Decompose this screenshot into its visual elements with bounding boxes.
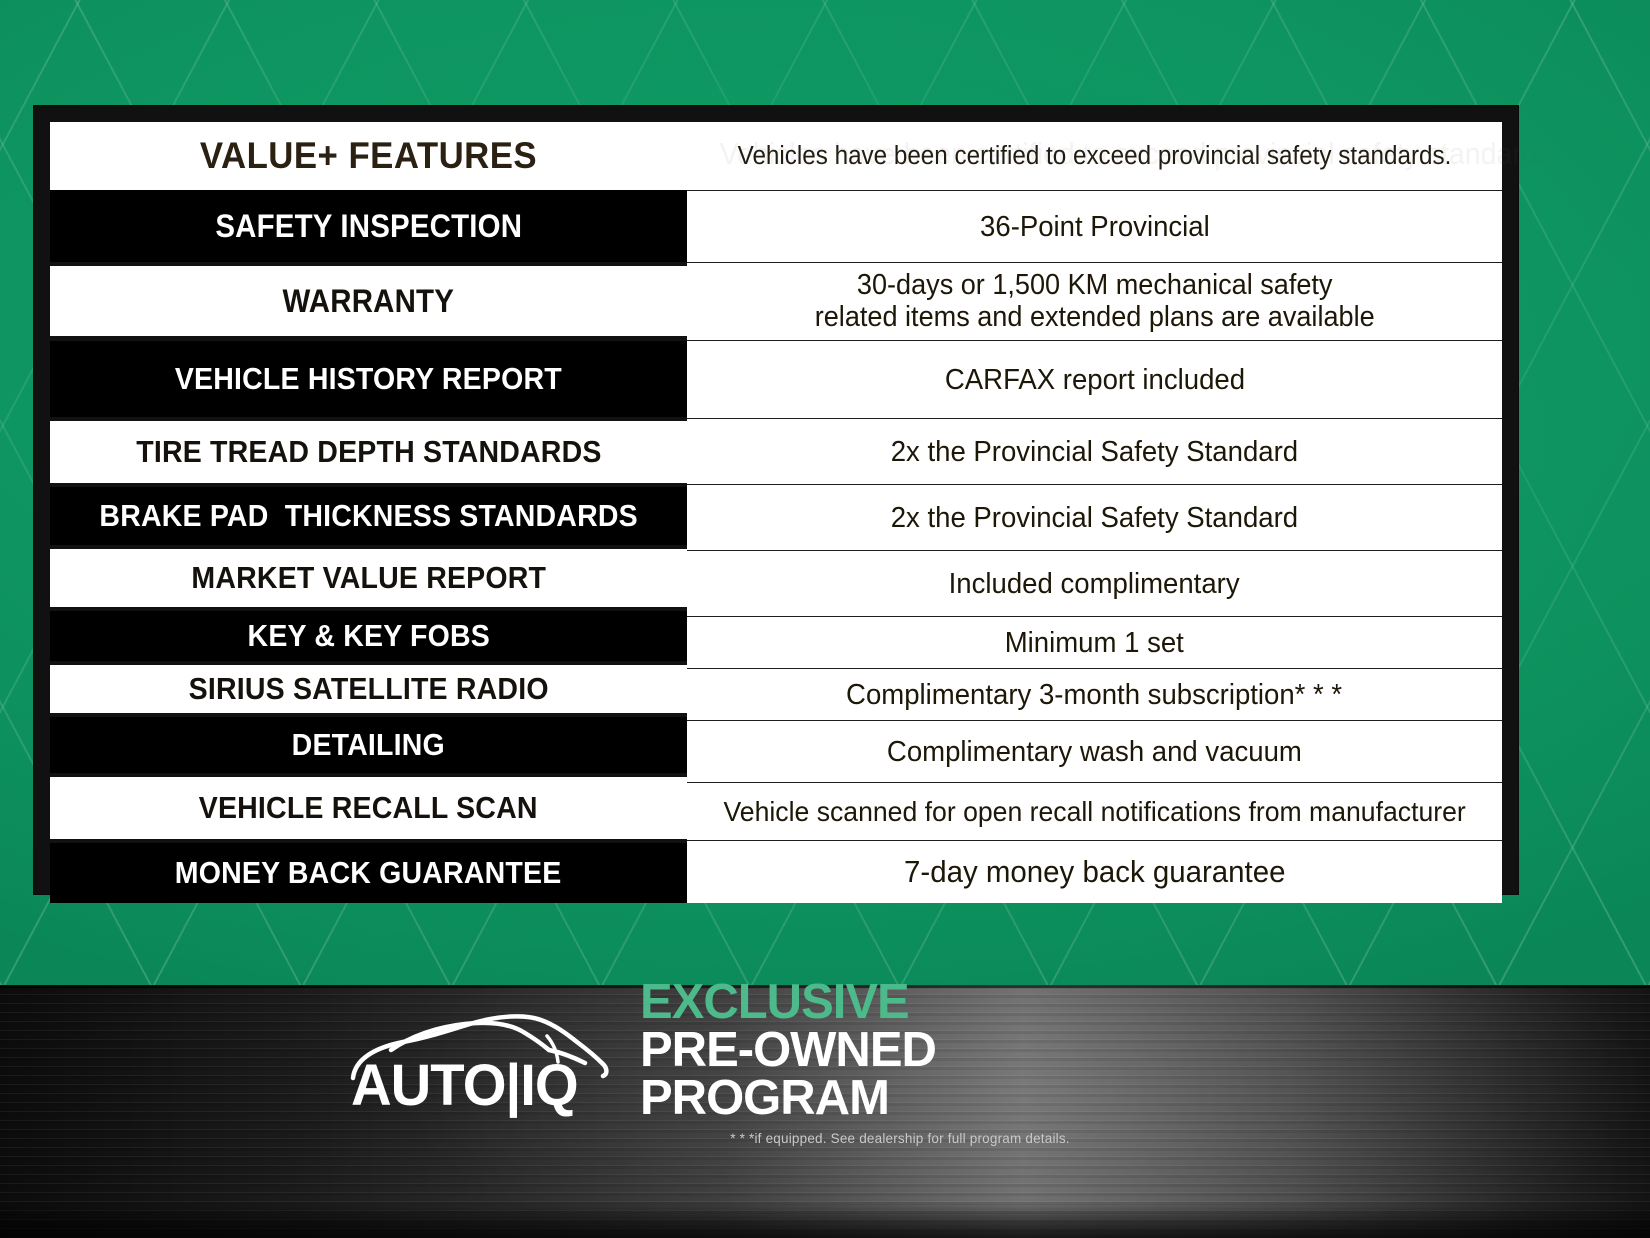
footer-bottom-shade — [0, 1202, 1650, 1238]
value-column: 36-Point Provincial 30-days or 1,500 KM … — [687, 122, 1502, 878]
feature-value: Vehicle scanned for open recall notifica… — [723, 796, 1465, 827]
table-row[interactable]: MONEY BACK GUARANTEE — [50, 843, 687, 903]
table-row-value[interactable]: Complimentary wash and vacuum — [687, 720, 1502, 783]
feature-label: MONEY BACK GUARANTEE — [175, 855, 562, 891]
feature-label: MARKET VALUE REPORT — [191, 560, 546, 596]
feature-label: WARRANTY — [283, 283, 455, 320]
table-row-value[interactable]: 7-day money back guarantee — [687, 840, 1502, 903]
feature-label: SIRIUS SATELLITE RADIO — [188, 671, 548, 707]
table-row[interactable]: VEHICLE RECALL SCAN — [50, 777, 687, 839]
value-features-table: VALUE+ FEATURES Vehicles have been certi… — [50, 122, 1502, 878]
table-row-value[interactable]: Vehicle scanned for open recall notifica… — [687, 782, 1502, 841]
promo-line-preowned: PRE-OWNED — [640, 1026, 1160, 1074]
autoiq-logo: AUTO|IQ — [345, 1000, 615, 1120]
feature-label: SAFETY INSPECTION — [215, 208, 522, 245]
table-row[interactable]: VEHICLE HISTORY REPORT — [50, 341, 687, 417]
table-row-value[interactable]: Minimum 1 set — [687, 616, 1502, 669]
feature-value: 30-days or 1,500 KM mechanical safety re… — [815, 270, 1375, 334]
feature-label: BRAKE PAD THICKNESS STANDARDS — [99, 498, 637, 534]
feature-label: VEHICLE HISTORY REPORT — [175, 361, 562, 397]
promo-text-block: EXCLUSIVE PRE-OWNED PROGRAM * * *if equi… — [640, 978, 1160, 1146]
table-row-value[interactable]: Included complimentary — [687, 550, 1502, 617]
table-row[interactable]: MARKET VALUE REPORT — [50, 549, 687, 607]
feature-value: Included complimentary — [949, 568, 1240, 600]
feature-label: KEY & KEY FOBS — [247, 618, 489, 654]
feature-value: 2x the Provincial Safety Standard — [891, 436, 1298, 468]
table-row[interactable]: DETAILING — [50, 717, 687, 773]
promo-page: VALUE+ FEATURES Vehicles have been certi… — [0, 0, 1650, 1238]
autoiq-wordmark: AUTO|IQ — [351, 1052, 609, 1119]
table-row[interactable]: WARRANTY — [50, 266, 687, 336]
feature-value: CARFAX report included — [944, 364, 1244, 396]
table-row[interactable]: SAFETY INSPECTION — [50, 190, 687, 262]
value-features-card: VALUE+ FEATURES Vehicles have been certi… — [34, 106, 1518, 894]
table-row[interactable]: KEY & KEY FOBS — [50, 611, 687, 661]
feature-value: Minimum 1 set — [1005, 627, 1184, 659]
table-row-value[interactable]: 2x the Provincial Safety Standard — [687, 484, 1502, 551]
table-row[interactable]: SIRIUS SATELLITE RADIO — [50, 665, 687, 713]
feature-value: 36-Point Provincial — [980, 211, 1210, 243]
feature-value: 2x the Provincial Safety Standard — [891, 502, 1298, 534]
table-row-value[interactable]: Complimentary 3-month subscription* * * — [687, 668, 1502, 721]
feature-value: Complimentary wash and vacuum — [887, 736, 1302, 768]
feature-label: DETAILING — [292, 727, 445, 763]
promo-line-program: PROGRAM — [640, 1074, 1160, 1122]
table-row-value[interactable]: 36-Point Provincial — [687, 190, 1502, 263]
table-row-value[interactable]: 30-days or 1,500 KM mechanical safety re… — [687, 262, 1502, 341]
table-row-value[interactable]: CARFAX report included — [687, 340, 1502, 419]
table-row-value[interactable]: 2x the Provincial Safety Standard — [687, 418, 1502, 485]
table-row[interactable]: TIRE TREAD DEPTH STANDARDS — [50, 421, 687, 483]
feature-column: SAFETY INSPECTION WARRANTY VEHICLE HISTO… — [50, 122, 687, 878]
feature-value: Complimentary 3-month subscription* * * — [846, 679, 1342, 711]
promo-disclaimer: * * *if equipped. See dealership for ful… — [640, 1131, 1160, 1146]
promo-line-exclusive: EXCLUSIVE — [640, 978, 1160, 1026]
feature-label: TIRE TREAD DEPTH STANDARDS — [136, 434, 601, 470]
feature-label: VEHICLE RECALL SCAN — [199, 790, 538, 826]
table-row[interactable]: BRAKE PAD THICKNESS STANDARDS — [50, 487, 687, 545]
feature-value: 7-day money back guarantee — [904, 855, 1285, 890]
